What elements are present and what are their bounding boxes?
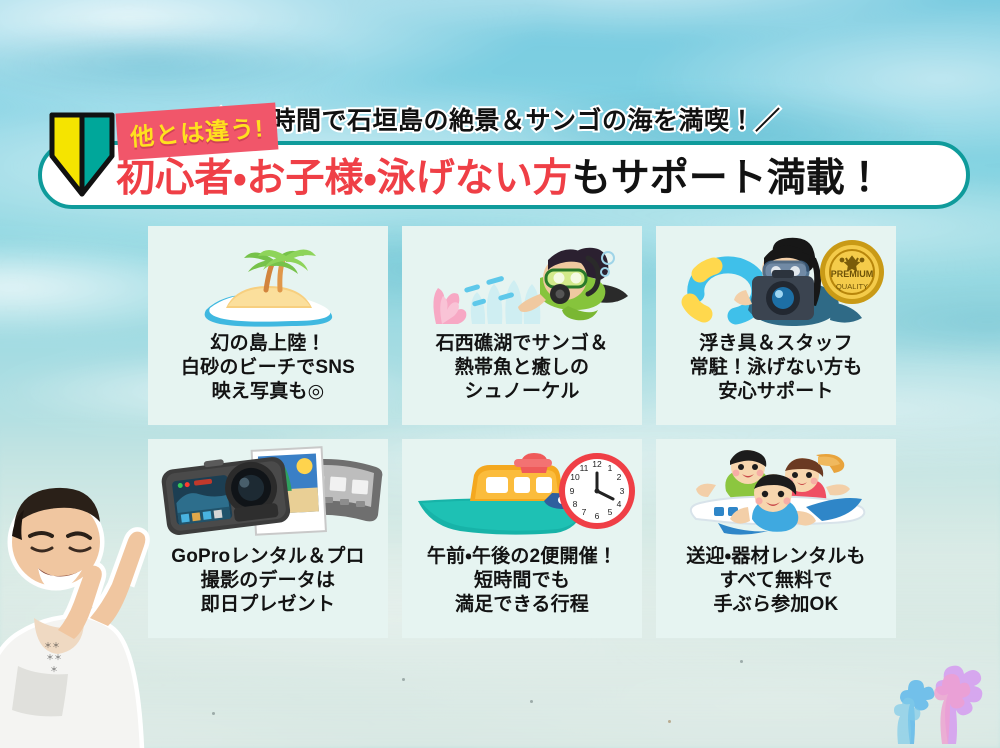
sub-headline-text: ＼短時間で石垣島の絶景＆サンゴの海を満喫！／ (219, 101, 780, 137)
caption-line: 満足できる行程 (427, 593, 617, 617)
pointing-man-photo: ＊＊＊＊＊ (0, 470, 174, 748)
svg-text:9: 9 (570, 486, 575, 496)
card-caption: GoProレンタル＆プロ 撮影のデータは 即日プレゼント (167, 545, 368, 617)
headline-black-part: もサポート満載！ (572, 147, 884, 203)
coral-silhouette-decoration (884, 636, 994, 744)
caption-line: 撮影のデータは (171, 569, 364, 593)
caption-line: 短時間でも (427, 569, 617, 593)
caption-line: 即日プレゼント (171, 593, 364, 617)
svg-text:＊: ＊ (50, 665, 58, 674)
caption-line: 石西礁湖でサンゴ＆ (436, 332, 609, 356)
card-caption: 幻の島上陸！ 白砂のビーチでSNS 映え写真も◎ (177, 332, 359, 404)
caption-line: GoProレンタル＆プロ (171, 545, 364, 569)
sand-speck (740, 660, 743, 663)
svg-text:8: 8 (573, 499, 578, 509)
banner-canvas: ＼短時間で石垣島の絶景＆サンゴの海を満喫！／ 初心者・お子様・泳げない方もサポー… (0, 0, 1000, 748)
card-artwork (656, 445, 896, 545)
svg-text:7: 7 (582, 507, 587, 517)
caption-line: 常駐！泳げない方も (690, 356, 863, 380)
svg-text:3: 3 (620, 486, 625, 496)
diver-camera-float-ring-icon: PREMIUM QUALITY (656, 232, 896, 332)
sand-speck (212, 712, 215, 715)
card-artwork (402, 232, 642, 332)
badge-quality-text: QUALITY (836, 282, 868, 291)
caption-line: 送迎・器材レンタルも (686, 545, 865, 569)
feature-card-two-departures[interactable]: 1212 345 678 91011 午前・午後の2便開催！ 短時間でも 満足で… (402, 439, 642, 638)
caption-line: 手ぶら参加OK (686, 593, 865, 617)
caption-line: すべて無料で (686, 569, 865, 593)
card-artwork (148, 445, 388, 545)
svg-text:5: 5 (608, 507, 613, 517)
badge-premium-text: PREMIUM (831, 269, 874, 279)
caption-line: 映え写真も◎ (181, 380, 355, 404)
feature-card-gopro-rental[interactable]: GoProレンタル＆プロ 撮影のデータは 即日プレゼント (148, 439, 388, 638)
svg-text:11: 11 (580, 463, 589, 473)
caption-line: シュノーケル (436, 380, 609, 404)
caption-line: 安心サポート (690, 380, 863, 404)
sand-speck (402, 678, 405, 681)
svg-text:4: 4 (617, 499, 622, 509)
card-caption: 石西礁湖でサンゴ＆ 熱帯魚と癒しの シュノーケル (432, 332, 613, 404)
card-caption: 午前・午後の2便開催！ 短時間でも 満足できる行程 (423, 545, 621, 617)
snorkeler-coral-icon (402, 232, 642, 332)
card-artwork (148, 232, 388, 332)
svg-text:1: 1 (608, 463, 613, 473)
caption-line: 熱帯魚と癒しの (436, 356, 609, 380)
svg-text:10: 10 (570, 472, 580, 482)
caption-line: 浮き具＆スタッフ (690, 332, 863, 356)
card-artwork: 1212 345 678 91011 (402, 445, 642, 545)
beginner-leaf-mark-icon (48, 110, 116, 198)
feature-card-grid: 幻の島上陸！ 白砂のビーチでSNS 映え写真も◎ (148, 226, 896, 638)
sand-speck (668, 720, 671, 723)
svg-text:6: 6 (595, 511, 600, 521)
feature-card-support-staff[interactable]: PREMIUM QUALITY 浮き具＆スタッフ 常駐！泳げない方も 安心サポー… (656, 226, 896, 425)
feature-card-palm-island[interactable]: 幻の島上陸！ 白砂のビーチでSNS 映え写真も◎ (148, 226, 388, 425)
caption-line: 午前・午後の2便開催！ (427, 545, 617, 569)
svg-text:2: 2 (617, 472, 622, 482)
feature-card-snorkeling[interactable]: 石西礁湖でサンゴ＆ 熱帯魚と癒しの シュノーケル (402, 226, 642, 425)
caption-line: 幻の島上陸！ (181, 332, 355, 356)
boat-clock-icon: 1212 345 678 91011 (402, 445, 642, 545)
svg-text:＊＊: ＊＊ (44, 641, 60, 650)
card-artwork: PREMIUM QUALITY (656, 232, 896, 332)
caption-line: 白砂のビーチでSNS (181, 356, 355, 380)
card-caption: 浮き具＆スタッフ 常駐！泳げない方も 安心サポート (686, 332, 867, 404)
svg-text:12: 12 (592, 459, 602, 469)
palm-island-icon (148, 232, 388, 332)
family-airplane-icon (656, 445, 896, 545)
gopro-camera-filmstrip-icon (148, 445, 388, 545)
svg-text:＊＊: ＊＊ (46, 653, 62, 662)
feature-card-free-transfer[interactable]: 送迎・器材レンタルも すべて無料で 手ぶら参加OK (656, 439, 896, 638)
card-caption: 送迎・器材レンタルも すべて無料で 手ぶら参加OK (682, 545, 869, 617)
ribbon-label: 他とは違う! (129, 115, 265, 151)
sand-speck (530, 700, 533, 703)
